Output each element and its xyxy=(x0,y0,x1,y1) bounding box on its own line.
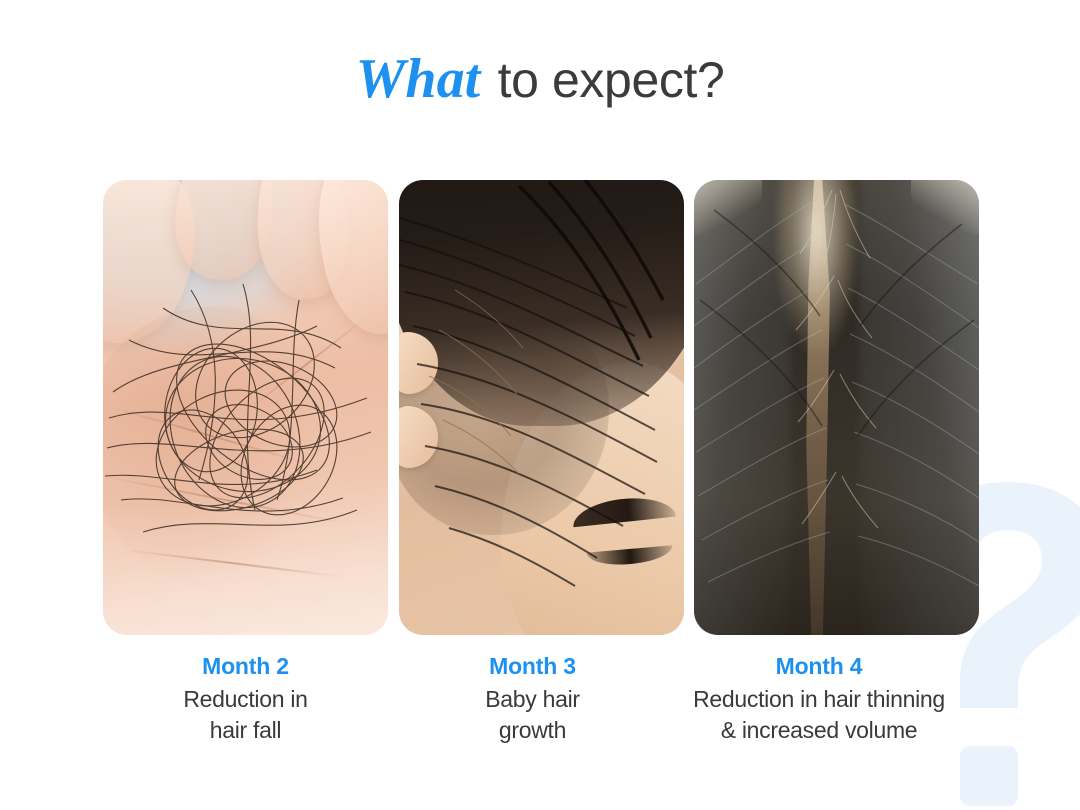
timeline-caption-row: Month 2 Reduction in hair fall Month 3 B… xyxy=(103,652,979,746)
caption-month-4: Month 4 Reduction in hair thinning & inc… xyxy=(659,652,979,746)
timeline-image-row xyxy=(103,180,979,635)
card-image-month-2 xyxy=(103,180,388,635)
caption-month-2: Month 2 Reduction in hair fall xyxy=(103,652,388,746)
month-description-2: Reduction in hair fall xyxy=(103,684,388,745)
month-label-3: Month 3 xyxy=(390,652,675,681)
title-rest: to expect? xyxy=(484,52,724,108)
card-image-month-4 xyxy=(694,180,979,635)
month-description-3: Baby hair growth xyxy=(390,684,675,745)
title-accent-word: What xyxy=(356,48,485,110)
slide-canvas: What to expect? xyxy=(0,0,1080,810)
month-label-2: Month 2 xyxy=(103,652,388,681)
caption-month-3: Month 3 Baby hair growth xyxy=(390,652,675,746)
card-image-month-3 xyxy=(399,180,684,635)
month-label-4: Month 4 xyxy=(659,652,979,681)
photo-hair-fall-in-palm xyxy=(103,180,388,635)
hair-strands-overlay xyxy=(399,180,684,635)
scalp-hair-texture xyxy=(694,180,979,635)
page-title: What to expect? xyxy=(0,48,1080,111)
photo-thinning-hairline xyxy=(399,180,684,635)
photo-healthy-scalp-part xyxy=(694,180,979,635)
month-description-4: Reduction in hair thinning & increased v… xyxy=(659,684,979,745)
fallen-hair-strands xyxy=(103,180,388,635)
